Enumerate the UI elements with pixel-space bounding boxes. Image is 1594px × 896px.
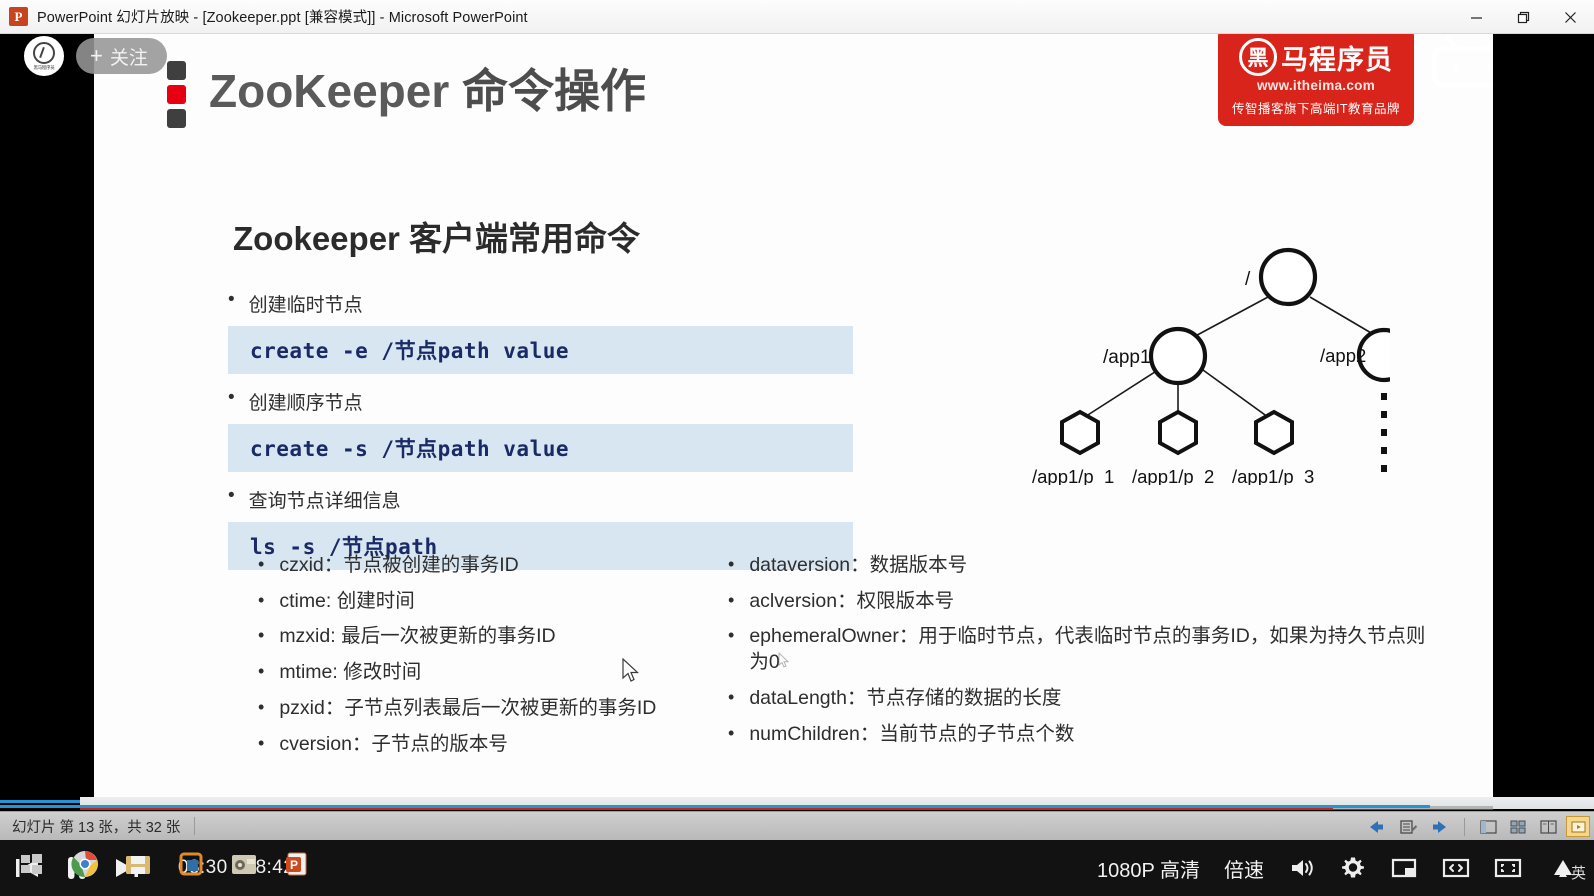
brand-circle-icon: 黑: [1239, 38, 1277, 76]
slide-title-en: ZooKeeper: [209, 65, 449, 117]
slide-title-cn: 命令操作: [462, 65, 646, 117]
attribute-text: aclversion：权限版本号: [749, 589, 1428, 615]
follow-button[interactable]: + 关注: [76, 38, 167, 74]
slide-title: ZooKeeper 命令操作: [209, 55, 646, 121]
tree-leaf-1: [1062, 412, 1098, 453]
web-fullscreen-icon[interactable]: [1442, 856, 1470, 880]
attribute-text: dataLength：节点存储的数据的长度: [749, 686, 1428, 712]
attribute-text: mtime: 修改时间: [279, 660, 713, 686]
attribute-item: •aclversion：权限版本号: [728, 589, 1428, 615]
player-right-controls: 1080P 高清 倍速: [1097, 840, 1580, 896]
attribute-item: •ephemeralOwner：用于临时节点，代表临时节点的事务ID，如果为持久…: [728, 624, 1428, 675]
command-list: • 创建临时节点 create -e /节点path value • 创建顺序节…: [228, 290, 853, 584]
attribute-item: •dataLength：节点存储的数据的长度: [728, 686, 1428, 712]
attribute-column-left: •czxid：节点被创建的事务ID •ctime: 创建时间 •mzxid: 最…: [258, 553, 713, 767]
bullet-dot: •: [228, 486, 235, 506]
status-bar-right: [1363, 812, 1590, 841]
window-title-bar: P PowerPoint 幻灯片放映 - [Zookeeper.ppt [兼容模…: [0, 0, 1594, 34]
svg-text:P: P: [290, 858, 298, 872]
bullet-dot: •: [258, 732, 264, 755]
bullet-dot: •: [228, 290, 235, 310]
powerpoint-taskbar-icon[interactable]: P: [279, 846, 315, 882]
deco-square-1: [167, 61, 186, 80]
chrome-icon[interactable]: [67, 846, 103, 882]
powerpoint-status-bar: 幻灯片 第 13 张，共 32 张: [0, 811, 1594, 840]
bullet-dot: •: [728, 589, 734, 612]
attribute-item: •dataversion：数据版本号: [728, 553, 1428, 579]
fullscreen-icon[interactable]: [1494, 856, 1522, 880]
bullet-dot: •: [258, 589, 264, 612]
office-icon[interactable]: [173, 846, 209, 882]
powerpoint-icon: P: [9, 7, 28, 26]
slide-count-label: 幻灯片 第 13 张，共 32 张: [12, 816, 180, 837]
attribute-text: numChildren：当前节点的子节点个数: [749, 722, 1428, 748]
windows-start-icon[interactable]: [14, 846, 50, 882]
bullet-dot: •: [728, 553, 734, 576]
attribute-text: pzxid：子节点列表最后一次被更新的事务ID: [279, 696, 713, 722]
tree-node-app2-label: /app2: [1320, 345, 1366, 367]
secondary-cursor: [778, 652, 790, 669]
brand-url: www.itheima.com: [1257, 78, 1375, 93]
tree-node-root: [1261, 250, 1315, 304]
gear-icon[interactable]: [1340, 855, 1366, 881]
attribute-item: •mzxid: 最后一次被更新的事务ID: [258, 624, 713, 650]
video-progress-area[interactable]: [0, 797, 1594, 811]
tree-leaf-2: [1160, 412, 1196, 453]
quality-button[interactable]: 1080P 高清: [1097, 854, 1200, 883]
normal-view-icon[interactable]: [1476, 816, 1500, 837]
code-block: create -e /节点path value: [228, 326, 853, 374]
command-bullet-label: 创建顺序节点: [249, 388, 363, 415]
code-pre: create -e /: [250, 339, 395, 363]
code-post: path value: [438, 437, 569, 461]
plus-icon: +: [90, 45, 103, 67]
svg-text:/app1/p_1: /app1/p_1: [1032, 466, 1114, 485]
bullet-dot: •: [728, 686, 734, 709]
attribute-text: mzxid: 最后一次被更新的事务ID: [279, 624, 713, 650]
svg-text:/app1/p_3: /app1/p_3: [1232, 466, 1314, 485]
pointer-options-icon[interactable]: [1395, 816, 1421, 838]
command-bullet-label: 创建临时节点: [249, 290, 363, 317]
brand-subtitle: 传智播客旗下高端IT教育品牌: [1232, 98, 1400, 117]
letterbox-right: [1493, 34, 1594, 797]
brand-name: 马程序员: [1281, 38, 1393, 77]
reading-view-icon[interactable]: [1536, 816, 1560, 837]
follow-overlay: 黑马程序员 + 关注: [24, 36, 167, 76]
bullet-dot: •: [258, 696, 264, 719]
bullet-dot: •: [258, 660, 264, 683]
code-cn: 节点: [395, 339, 438, 363]
deco-square-2: [167, 85, 186, 104]
close-button[interactable]: [1547, 0, 1594, 34]
avatar-ring-icon: [33, 42, 55, 64]
status-separator: [1464, 818, 1465, 836]
brand-logo: 黑 马程序员 www.itheima.com 传智播客旗下高端IT教育品牌: [1218, 34, 1414, 126]
bilibili-watermark: [1424, 34, 1493, 92]
bullet-dot: •: [258, 553, 264, 576]
attribute-text: cversion：子节点的版本号: [279, 732, 713, 758]
bullet-dot: •: [228, 388, 235, 408]
window-title: PowerPoint 幻灯片放映 - [Zookeeper.ppt [兼容模式]…: [37, 6, 528, 27]
attribute-text: ctime: 创建时间: [279, 589, 713, 615]
tree-node-app1: [1151, 329, 1205, 383]
command-bullet: • 创建临时节点: [228, 290, 853, 317]
command-bullet-label: 查询节点详细信息: [249, 486, 401, 513]
znode-tree-diagram: / /app1 /app1/p_1 /app1/p_2 /app1/p_3 /a…: [920, 205, 1390, 480]
command-bullet: • 查询节点详细信息: [228, 486, 853, 513]
attribute-item: •czxid：节点被创建的事务ID: [258, 553, 713, 579]
progress-accent-left: [0, 800, 80, 803]
picture-in-picture-icon[interactable]: [1390, 856, 1418, 880]
minimize-button[interactable]: [1453, 0, 1500, 34]
folder-icon[interactable]: [120, 846, 156, 882]
taskbar-icons: P: [14, 846, 315, 882]
svg-text:/: /: [1245, 269, 1251, 290]
svg-text:/app1: /app1: [1103, 347, 1151, 368]
avatar[interactable]: 黑马程序员: [24, 36, 64, 76]
restore-button[interactable]: [1500, 0, 1547, 34]
attribute-text: czxid：节点被创建的事务ID: [279, 553, 713, 579]
deco-square-3: [167, 109, 186, 128]
slide-canvas: ZooKeeper 命令操作 黑 马程序员 www.itheima.com 传智…: [94, 34, 1493, 797]
brand-main: 黑 马程序员: [1239, 38, 1393, 77]
follow-label: 关注: [110, 43, 148, 70]
screen: P PowerPoint 幻灯片放映 - [Zookeeper.ppt [兼容模…: [0, 0, 1594, 896]
title-decoration: [167, 61, 186, 133]
avatar-label: 黑马程序员: [34, 65, 55, 71]
previous-arrow-icon[interactable]: [1363, 816, 1389, 838]
attribute-item: •pzxid：子节点列表最后一次被更新的事务ID: [258, 696, 713, 722]
window-controls: [1453, 0, 1594, 34]
status-divider: [194, 817, 195, 835]
bullet-dot: •: [728, 722, 734, 745]
next-arrow-icon[interactable]: [1427, 816, 1453, 838]
command-bullet: • 创建顺序节点: [228, 388, 853, 415]
attribute-item: •ctime: 创建时间: [258, 589, 713, 615]
tree-leaf-3: [1256, 412, 1292, 453]
attribute-item: •numChildren：当前节点的子节点个数: [728, 722, 1428, 748]
slide-sorter-icon[interactable]: [1506, 816, 1530, 837]
speed-button[interactable]: 倍速: [1224, 854, 1264, 883]
code-post: path value: [438, 339, 569, 363]
bullet-dot: •: [258, 624, 264, 647]
mouse-cursor: [622, 658, 640, 684]
code-cn: 节点: [395, 437, 438, 461]
ime-indicator[interactable]: 英: [1571, 862, 1586, 883]
attribute-text: dataversion：数据版本号: [749, 553, 1428, 579]
attribute-text: ephemeralOwner：用于临时节点，代表临时节点的事务ID，如果为持久节…: [749, 624, 1428, 675]
tool-icon[interactable]: [226, 846, 262, 882]
section-heading: Zookeeper 客户端常用命令: [233, 212, 640, 260]
attribute-item: •mtime: 修改时间: [258, 660, 713, 686]
volume-icon[interactable]: [1288, 856, 1316, 880]
slideshow-view-icon[interactable]: [1566, 816, 1590, 837]
code-block: create -s /节点path value: [228, 424, 853, 472]
bullet-dot: •: [728, 624, 734, 647]
attribute-item: •cversion：子节点的版本号: [258, 732, 713, 758]
attribute-lists: •czxid：节点被创建的事务ID •ctime: 创建时间 •mzxid: 最…: [258, 553, 1438, 767]
attribute-column-right: •dataversion：数据版本号 •aclversion：权限版本号 •ep…: [728, 553, 1428, 767]
status-accent-strip: [0, 805, 1430, 808]
svg-text:/app1/p_2: /app1/p_2: [1132, 466, 1214, 485]
code-pre: create -s /: [250, 437, 395, 461]
letterbox-left: [0, 34, 94, 797]
